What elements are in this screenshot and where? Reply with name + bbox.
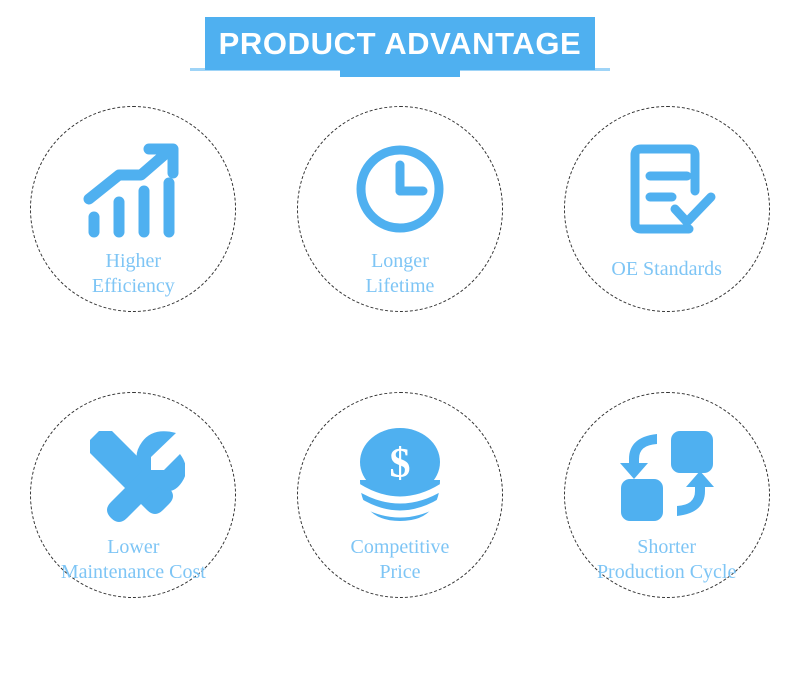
header-title-box: PRODUCT ADVANTAGE <box>205 17 595 70</box>
feature-cell: OE Standards <box>533 106 800 392</box>
wrench-screwdriver-icon <box>81 419 185 531</box>
document-checkmark-icon <box>617 133 717 245</box>
feature-circle-competitive-price[interactable]: $ Competitive Price <box>297 392 503 598</box>
feature-circle-higher-efficiency[interactable]: Higher Efficiency <box>30 106 236 312</box>
page-header: PRODUCT ADVANTAGE <box>0 0 800 92</box>
feature-cell: Higher Efficiency <box>0 106 267 392</box>
feature-label: OE Standards <box>537 257 797 282</box>
feature-label: Shorter Production Cycle <box>537 535 797 585</box>
feature-circle-longer-lifetime[interactable]: Longer Lifetime <box>297 106 503 312</box>
feature-circle-oe-standards[interactable]: OE Standards <box>564 106 770 312</box>
feature-label: Lower Maintenance Cost <box>3 535 263 585</box>
growth-chart-icon <box>81 133 185 245</box>
feature-label: Higher Efficiency <box>3 249 263 299</box>
svg-text:$: $ <box>389 441 410 487</box>
feature-cell: Shorter Production Cycle <box>533 392 800 678</box>
feature-circle-lower-maintenance-cost[interactable]: Lower Maintenance Cost <box>30 392 236 598</box>
feature-grid: Higher Efficiency Longer Lifetime <box>0 92 800 678</box>
feature-circle-shorter-production-cycle[interactable]: Shorter Production Cycle <box>564 392 770 598</box>
feature-cell: $ Competitive Price <box>267 392 534 678</box>
feature-label: Competitive Price <box>270 535 530 585</box>
cycle-arrows-squares-icon <box>617 419 717 531</box>
page-title: PRODUCT ADVANTAGE <box>219 26 582 62</box>
coin-stack-dollar-icon: $ <box>354 419 446 531</box>
feature-cell: Longer Lifetime <box>267 106 534 392</box>
header-tab-accent <box>340 70 460 77</box>
feature-cell: Lower Maintenance Cost <box>0 392 267 678</box>
clock-icon <box>352 133 448 245</box>
feature-label: Longer Lifetime <box>270 249 530 299</box>
